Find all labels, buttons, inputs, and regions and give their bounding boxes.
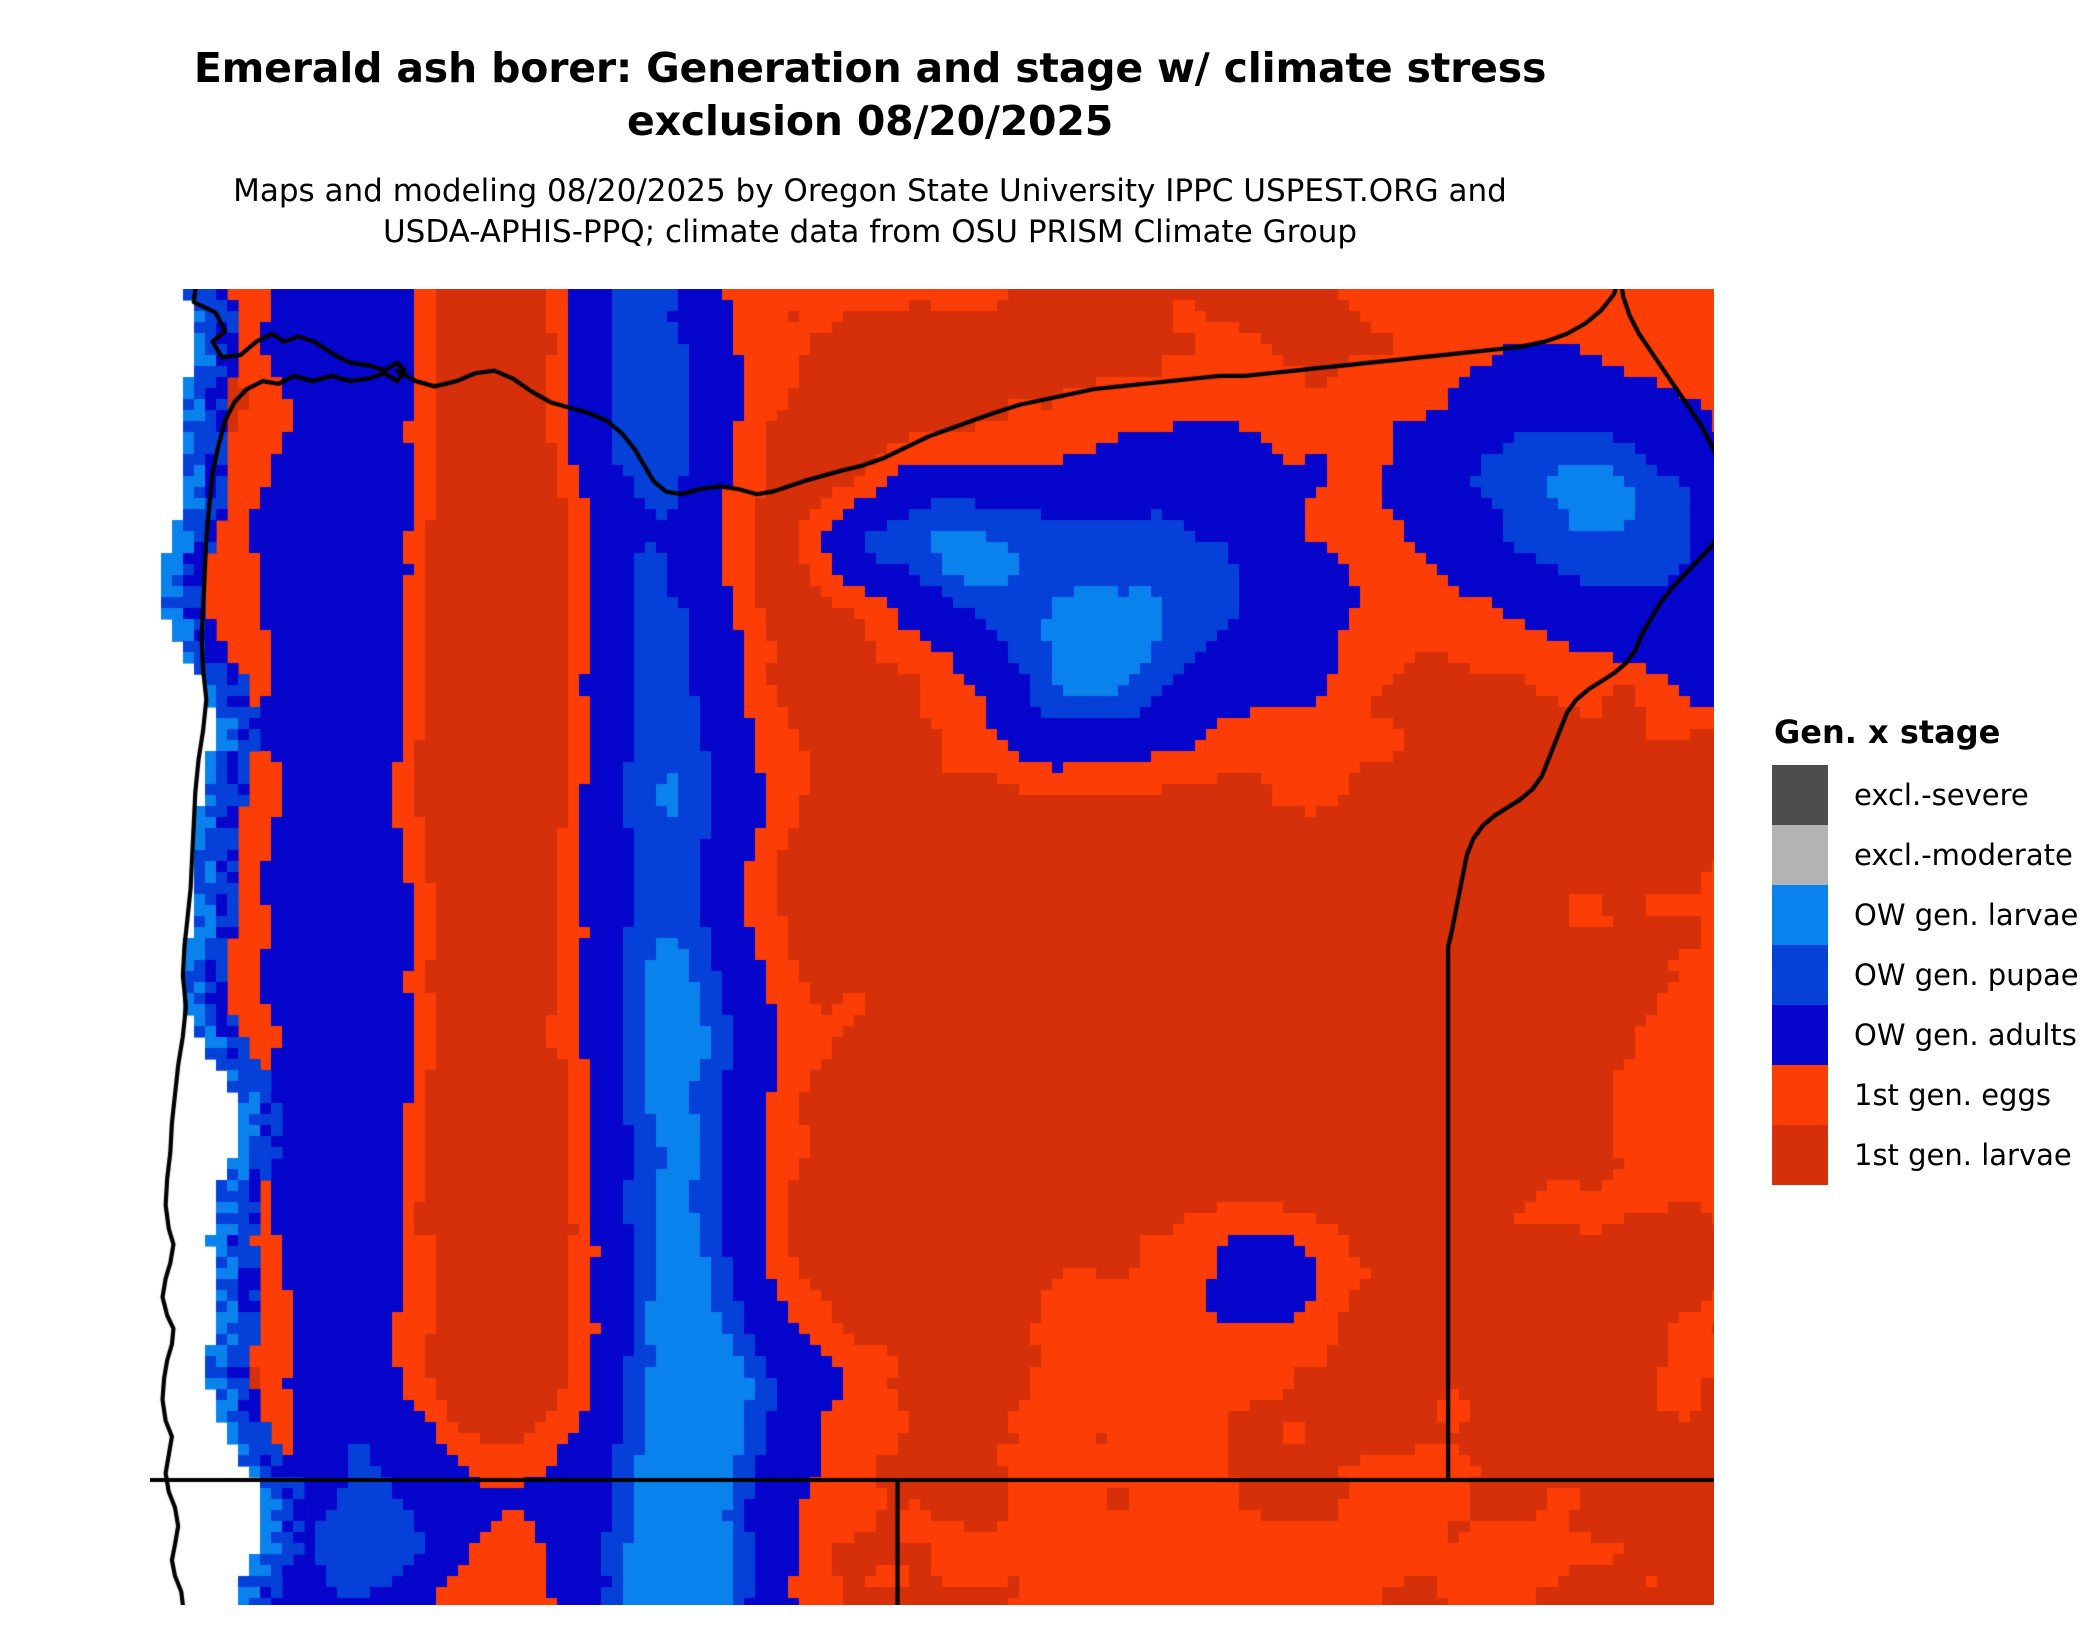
- page-title-line-2: exclusion 08/20/2025: [90, 95, 1650, 148]
- legend-color-swatch: [1772, 1065, 1828, 1125]
- header: Emerald ash borer: Generation and stage …: [0, 0, 1740, 253]
- legend-item: 1st gen. larvae: [1772, 1125, 2079, 1185]
- legend-color-swatch: [1772, 765, 1828, 825]
- legend-item: OW gen. adults: [1772, 1005, 2079, 1065]
- legend-item: OW gen. larvae: [1772, 885, 2079, 945]
- legend-item-label: OW gen. larvae: [1854, 898, 2078, 932]
- map-page: Emerald ash borer: Generation and stage …: [0, 0, 2100, 1645]
- legend-title: Gen. x stage: [1774, 713, 2079, 751]
- legend-item-label: excl.-moderate: [1854, 838, 2073, 872]
- page-title-line-1: Emerald ash borer: Generation and stage …: [90, 42, 1650, 95]
- legend-item-label: excl.-severe: [1854, 778, 2029, 812]
- legend-color-swatch: [1772, 1125, 1828, 1185]
- legend-color-swatch: [1772, 885, 1828, 945]
- page-title: Emerald ash borer: Generation and stage …: [90, 42, 1650, 149]
- page-subtitle-line-2: USDA-APHIS-PPQ; climate data from OSU PR…: [100, 212, 1640, 253]
- legend-item-label: 1st gen. eggs: [1854, 1078, 2051, 1112]
- legend-item: 1st gen. eggs: [1772, 1065, 2079, 1125]
- legend-item-label: OW gen. pupae: [1854, 958, 2079, 992]
- legend-item-label: OW gen. adults: [1854, 1018, 2077, 1052]
- legend-color-swatch: [1772, 825, 1828, 885]
- page-subtitle: Maps and modeling 08/20/2025 by Oregon S…: [100, 171, 1640, 253]
- legend-item: excl.-severe: [1772, 765, 2079, 825]
- page-subtitle-line-1: Maps and modeling 08/20/2025 by Oregon S…: [100, 171, 1640, 212]
- legend: Gen. x stage excl.-severeexcl.-moderateO…: [1772, 713, 2079, 1185]
- legend-item: OW gen. pupae: [1772, 945, 2079, 1005]
- pest-phenology-raster-map[interactable]: [150, 289, 1714, 1605]
- legend-item-list: excl.-severeexcl.-moderateOW gen. larvae…: [1772, 765, 2079, 1185]
- legend-color-swatch: [1772, 945, 1828, 1005]
- map-panel[interactable]: [150, 289, 1714, 1605]
- legend-item: excl.-moderate: [1772, 825, 2079, 885]
- legend-item-label: 1st gen. larvae: [1854, 1138, 2072, 1172]
- legend-color-swatch: [1772, 1005, 1828, 1065]
